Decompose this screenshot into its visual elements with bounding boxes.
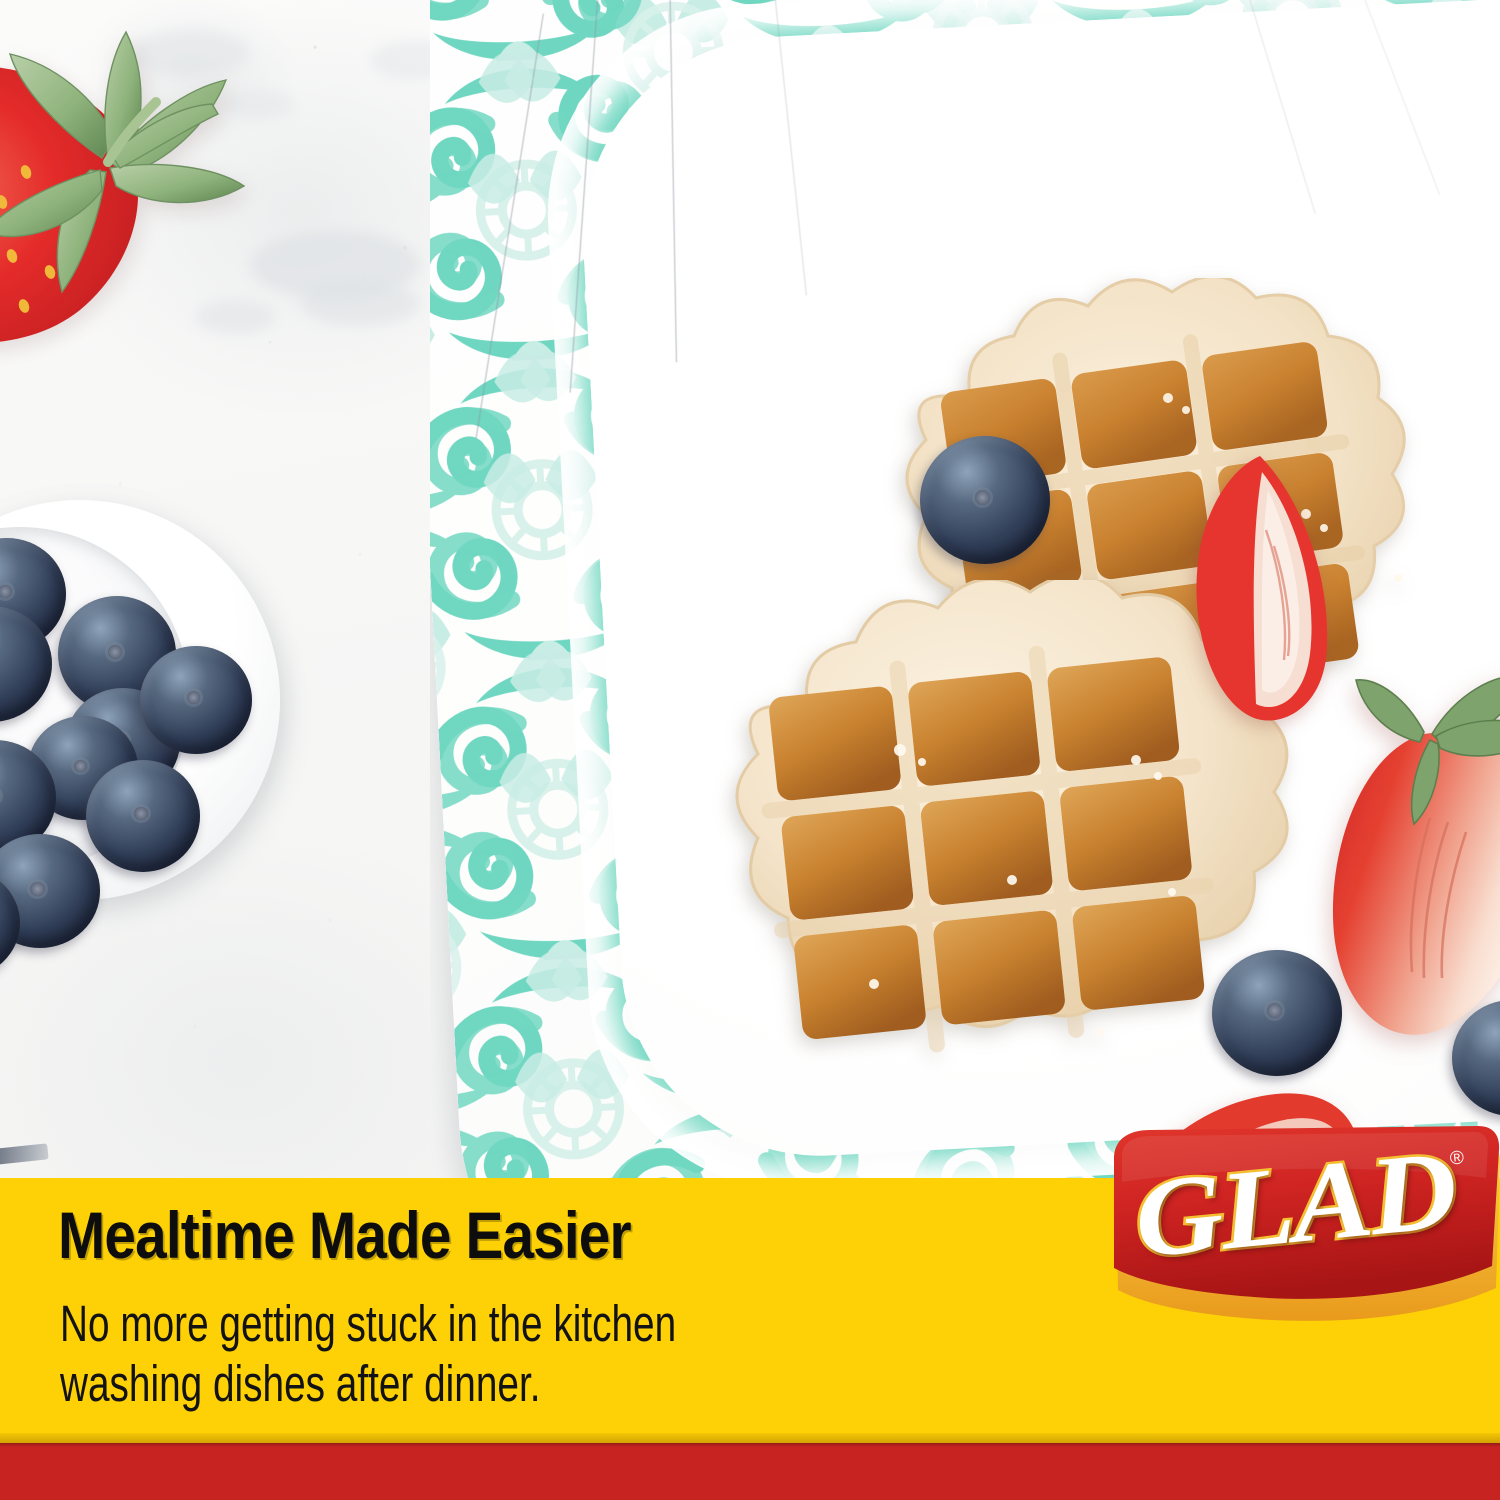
banner-subcopy: No more getting stuck in the kitchen was… — [60, 1294, 676, 1414]
product-lifestyle-image: GLAD ® Mealtime Made Easier No more gett… — [0, 0, 1500, 1500]
strawberry-slice-on-waffle — [1150, 450, 1370, 730]
registered-trademark-icon: ® — [1449, 1147, 1465, 1170]
strawberry-half-right — [1320, 672, 1500, 1072]
powdered-sugar-smudge — [300, 280, 420, 326]
banner-bottom-shadow — [0, 1433, 1500, 1443]
blueberry-right — [1212, 950, 1342, 1076]
food-photograph — [0, 0, 1500, 1180]
glad-logo: GLAD ® — [1106, 1126, 1500, 1334]
strawberry-whole-top-left — [0, 10, 310, 390]
blueberry — [86, 760, 200, 872]
footer-bar — [0, 1443, 1500, 1500]
banner-headline: Mealtime Made Easier — [58, 1202, 631, 1268]
blueberry — [140, 646, 252, 754]
blueberry-on-waffle — [920, 436, 1050, 564]
